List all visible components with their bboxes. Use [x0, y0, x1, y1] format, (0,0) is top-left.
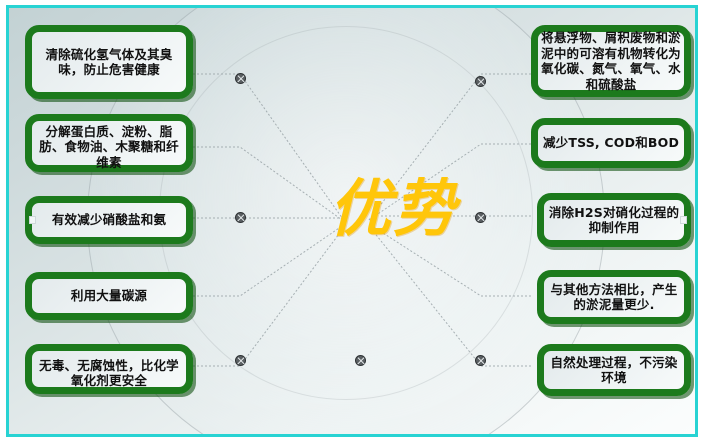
callout-remove-h2s[interactable]: 清除硫化氢气体及其臭味，防止危害健康 — [25, 25, 193, 99]
connector-node-right-1 — [475, 76, 486, 87]
slide-canvas: 优势 清除硫化氢气体及其臭味，防止危害健康 分解蛋白质、淀粉、脂肪、食物油、木聚… — [0, 0, 704, 442]
connector-node-center-b — [355, 355, 366, 366]
callout-decompose-organic[interactable]: 分解蛋白质、淀粉、脂肪、食物油、木聚糖和纤维素 — [25, 114, 193, 172]
callout-less-sludge-label: 与其他方法相比，产生的淤泥量更少. — [544, 282, 684, 313]
callout-reduce-nitrate-label: 有效减少硝酸盐和氨 — [32, 212, 186, 228]
connector-node-right-5 — [475, 355, 486, 366]
callout-use-carbon[interactable]: 利用大量碳源 — [25, 272, 193, 320]
center-title: 优势 — [293, 176, 493, 242]
callout-reduce-nitrate[interactable]: 有效减少硝酸盐和氨 — [25, 196, 193, 244]
connector-node-left-1 — [235, 73, 246, 84]
callout-handle-right[interactable] — [680, 216, 687, 224]
callout-natural-process-label: 自然处理过程，不污染环境 — [544, 355, 684, 386]
callout-natural-process[interactable]: 自然处理过程，不污染环境 — [537, 344, 691, 396]
callout-reduce-tss-label: 减少TSS, COD和BOD — [538, 135, 684, 151]
callout-handle-left[interactable] — [29, 216, 36, 224]
callout-convert-solubles-label: 将悬浮物、屑积废物和淤泥中的可溶有机物转化为氧化碳、氮气、氧气、水和硫酸盐 — [538, 30, 684, 92]
callout-non-toxic[interactable]: 无毒、无腐蚀性，比化学氧化剂更安全 — [25, 344, 193, 394]
slide-frame: 优势 清除硫化氢气体及其臭味，防止危害健康 分解蛋白质、淀粉、脂肪、食物油、木聚… — [6, 5, 698, 437]
callout-convert-solubles[interactable]: 将悬浮物、屑积废物和淤泥中的可溶有机物转化为氧化碳、氮气、氧气、水和硫酸盐 — [531, 25, 691, 97]
connector-node-left-3 — [235, 212, 246, 223]
callout-remove-h2s-label: 清除硫化氢气体及其臭味，防止危害健康 — [32, 47, 186, 78]
callout-non-toxic-label: 无毒、无腐蚀性，比化学氧化剂更安全 — [32, 358, 186, 389]
callout-use-carbon-label: 利用大量碳源 — [32, 288, 186, 304]
connector-node-left-5 — [235, 355, 246, 366]
callout-eliminate-h2s-label: 消除H2S对硝化过程的抑制作用 — [544, 205, 684, 236]
callout-eliminate-h2s[interactable]: 消除H2S对硝化过程的抑制作用 — [537, 193, 691, 247]
callout-less-sludge[interactable]: 与其他方法相比，产生的淤泥量更少. — [537, 270, 691, 324]
callout-decompose-organic-label: 分解蛋白质、淀粉、脂肪、食物油、木聚糖和纤维素 — [32, 124, 186, 171]
callout-reduce-tss[interactable]: 减少TSS, COD和BOD — [531, 118, 691, 168]
